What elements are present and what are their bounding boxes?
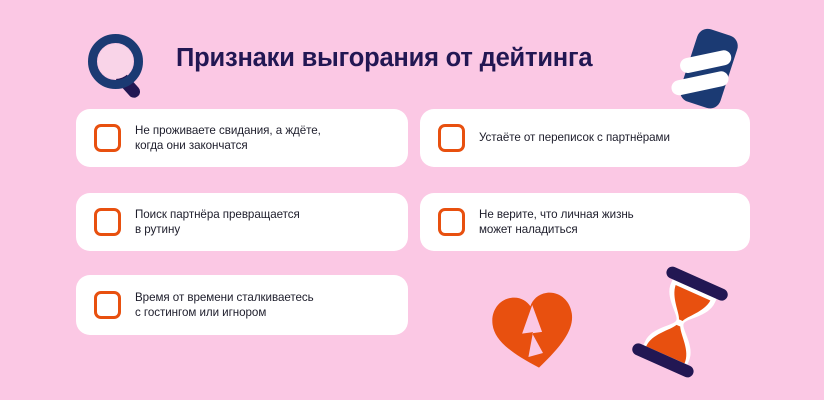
- checklist-item-label: Не верите, что личная жизнь может налади…: [479, 207, 634, 238]
- checklist-line-2: когда они закончатся: [135, 139, 248, 152]
- checklist-item-label: Не проживаете свидания, а ждёте, когда о…: [135, 123, 321, 154]
- checklist-line-1: Поиск партнёра превращается: [135, 208, 300, 221]
- checklist-item-label: Устаёте от переписок с партнёрами: [479, 130, 670, 145]
- checkbox-item-5[interactable]: [94, 291, 121, 319]
- broken-heart-icon: [492, 292, 576, 372]
- checklist-line-1: Не верите, что личная жизнь: [479, 208, 634, 221]
- checklist-line-2: может наладиться: [479, 223, 578, 236]
- checklist-card[interactable]: Не проживаете свидания, а ждёте, когда о…: [76, 109, 408, 167]
- checklist-item-label: Время от времени сталкиваетесь с гостинг…: [135, 290, 314, 321]
- header: Признаки выгорания от дейтинга: [0, 14, 824, 100]
- checklist-line-2: с гостингом или игнором: [135, 306, 266, 319]
- checklist-line-2: в рутину: [135, 223, 180, 236]
- phone-chat-icon: [655, 22, 760, 114]
- checklist-line-1: Время от времени сталкиваетесь: [135, 291, 314, 304]
- checkbox-item-3[interactable]: [94, 208, 121, 236]
- hourglass-icon: [632, 266, 728, 378]
- checklist-line-1: Не проживаете свидания, а ждёте,: [135, 124, 321, 137]
- checklist-card[interactable]: Время от времени сталкиваетесь с гостинг…: [76, 275, 408, 335]
- checklist-line-1: Устаёте от переписок с партнёрами: [479, 131, 670, 144]
- checklist-item-label: Поиск партнёра превращается в рутину: [135, 207, 300, 238]
- checklist-card[interactable]: Поиск партнёра превращается в рутину: [76, 193, 408, 251]
- checkbox-item-1[interactable]: [94, 124, 121, 152]
- checklist-card[interactable]: Устаёте от переписок с партнёрами: [420, 109, 750, 167]
- page-title: Признаки выгорания от дейтинга: [176, 42, 676, 74]
- infographic-canvas: Признаки выгорания от дейтинга Не прожив…: [0, 0, 824, 400]
- checkbox-item-4[interactable]: [438, 208, 465, 236]
- checklist-card[interactable]: Не верите, что личная жизнь может налади…: [420, 193, 750, 251]
- magnifying-glass-icon: [88, 34, 154, 104]
- checkbox-item-2[interactable]: [438, 124, 465, 152]
